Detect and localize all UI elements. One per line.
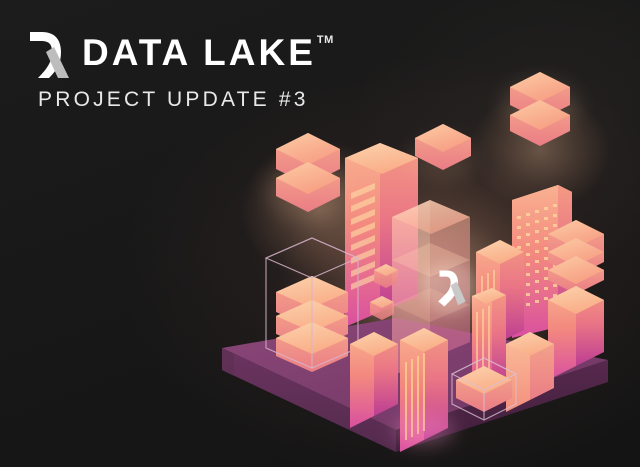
trademark-symbol: TM (317, 35, 334, 46)
floating-hex-far-right (548, 220, 604, 294)
brand-text: DATA LAKE TM (82, 28, 334, 78)
slide-canvas: DATA LAKE TM PROJECT UPDATE #3 (0, 0, 640, 467)
slide-subtitle: PROJECT UPDATE #3 (38, 88, 334, 112)
brand-name: DATA LAKE (82, 28, 316, 78)
lambda-glyph-icon (424, 262, 476, 314)
tower-vertical-lines-center (394, 328, 454, 452)
lambda-logo-mark (26, 28, 72, 78)
brand-row: DATA LAKE TM (26, 28, 334, 78)
floating-hex-top-center (409, 124, 477, 182)
header-block: DATA LAKE TM PROJECT UPDATE #3 (26, 28, 334, 112)
